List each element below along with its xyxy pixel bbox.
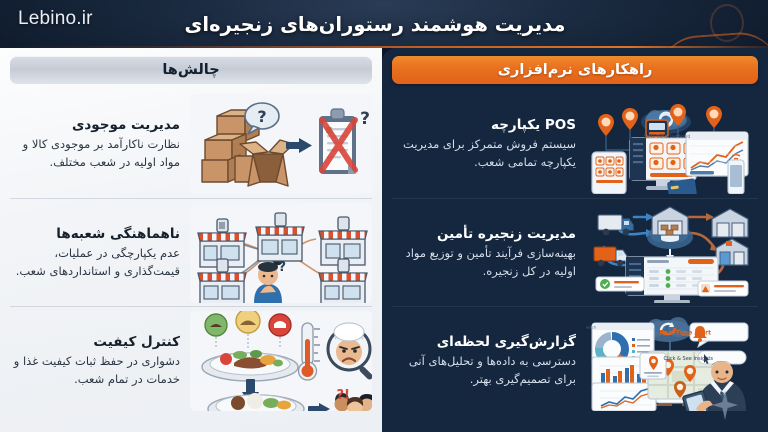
food-plate-thermometer-angry-chef-icon: !? <box>190 311 372 411</box>
solution-text-integrated-pos: POS یکپارچه سیستم فروش متمرکز برای مدیری… <box>392 116 580 172</box>
svg-text:?: ? <box>360 109 370 129</box>
challenge-text-branch-misalignment: ناهماهنگی شعبه‌ها عدم یکپارچگی در عملیات… <box>10 225 184 281</box>
four-storefronts-tangled-network-icon: ? <box>190 203 372 303</box>
challenges-column: چالش‌ها <box>0 48 382 432</box>
challenges-list: ? <box>10 90 372 414</box>
solutions-list: Sales Trend Dashboard <box>392 90 758 414</box>
svg-text:Sales by Branch: Sales by Branch <box>586 325 596 329</box>
svg-text:!?: !? <box>337 388 350 403</box>
charts-map-realtime-alert-analyst-icon: Sales by Branch <box>586 311 758 411</box>
solution-desc: سیستم فروش متمرکز برای مدیریت یکپارچه تم… <box>394 136 576 172</box>
solution-item-realtime-reporting: Sales by Branch <box>392 306 758 414</box>
solution-title: گزارش‌گیری لحظه‌ای <box>394 333 576 351</box>
solution-desc: دسترسی به داده‌ها و تحلیل‌های آنی برای ت… <box>394 353 576 389</box>
challenge-desc: دشواری در حفظ ثبات کیفیت غذا و خدمات در … <box>12 353 180 389</box>
page-title: مدیریت هوشمند رستوران‌های زنجیره‌ای <box>0 0 768 48</box>
challenge-title: کنترل کیفیت <box>12 333 180 351</box>
solutions-column: راهکارهای نرم‌افزاری <box>382 48 768 432</box>
challenge-item-quality-control: !? کنترل کیفیت دشواری در حفظ ثبات کیفیت … <box>10 306 372 414</box>
solutions-heading: راهکارهای نرم‌افزاری <box>392 56 758 84</box>
challenge-desc: نظارت ناکارآمد بر موجودی کالا و مواد اول… <box>12 136 180 172</box>
cloud-pos-devices-dashboard-icon: Sales Trend Dashboard <box>586 94 758 194</box>
svg-text:Click & See Insights: Click & See Insights <box>664 356 714 362</box>
svg-text:?: ? <box>257 107 266 126</box>
challenge-item-inventory: ? <box>10 90 372 198</box>
solution-title: POS یکپارچه <box>394 116 576 134</box>
solution-item-supply-chain: مدیریت زنجیره تأمین بهینه‌سازی فرآیند تأ… <box>392 198 758 306</box>
svg-text:Sales Trend Dashboard: Sales Trend Dashboard <box>644 134 690 139</box>
svg-text:?: ? <box>278 260 286 275</box>
boxes-to-rejected-clipboard-icon: ? <box>190 94 372 194</box>
solution-item-integrated-pos: Sales Trend Dashboard <box>392 90 758 198</box>
svg-text:Real-Time Alert: Real-Time Alert <box>659 329 711 336</box>
solution-title: مدیریت زنجیره تأمین <box>394 225 576 243</box>
challenge-text-quality-control: کنترل کیفیت دشواری در حفظ ثبات کیفیت غذا… <box>10 333 184 389</box>
solution-desc: بهینه‌سازی فرآیند تأمین و توزیع مواد اول… <box>394 245 576 281</box>
challenge-desc: عدم یکپارچگی در عملیات، قیمت‌گذاری و است… <box>12 245 180 281</box>
content-area: چالش‌ها <box>0 48 768 432</box>
challenge-title: مدیریت موجودی <box>12 116 180 134</box>
page-header: Lebino.ir مدیریت هوشمند رستوران‌های زنجی… <box>0 0 768 48</box>
solution-text-supply-chain: مدیریت زنجیره تأمین بهینه‌سازی فرآیند تأ… <box>392 225 580 281</box>
infographic-root: Lebino.ir مدیریت هوشمند رستوران‌های زنجی… <box>0 0 768 432</box>
solution-text-realtime-reporting: گزارش‌گیری لحظه‌ای دسترسی به داده‌ها و ت… <box>392 333 580 389</box>
challenge-title: ناهماهنگی شعبه‌ها <box>12 225 180 243</box>
challenges-heading: چالش‌ها <box>10 56 372 84</box>
trucks-warehouses-cloud-inventory-icon <box>586 203 758 303</box>
challenge-text-inventory: مدیریت موجودی نظارت ناکارآمد بر موجودی ک… <box>10 116 184 172</box>
challenge-item-branch-misalignment: ? ناهماهنگی شعبه‌ها عدم یکپارچگی در عملی… <box>10 198 372 306</box>
